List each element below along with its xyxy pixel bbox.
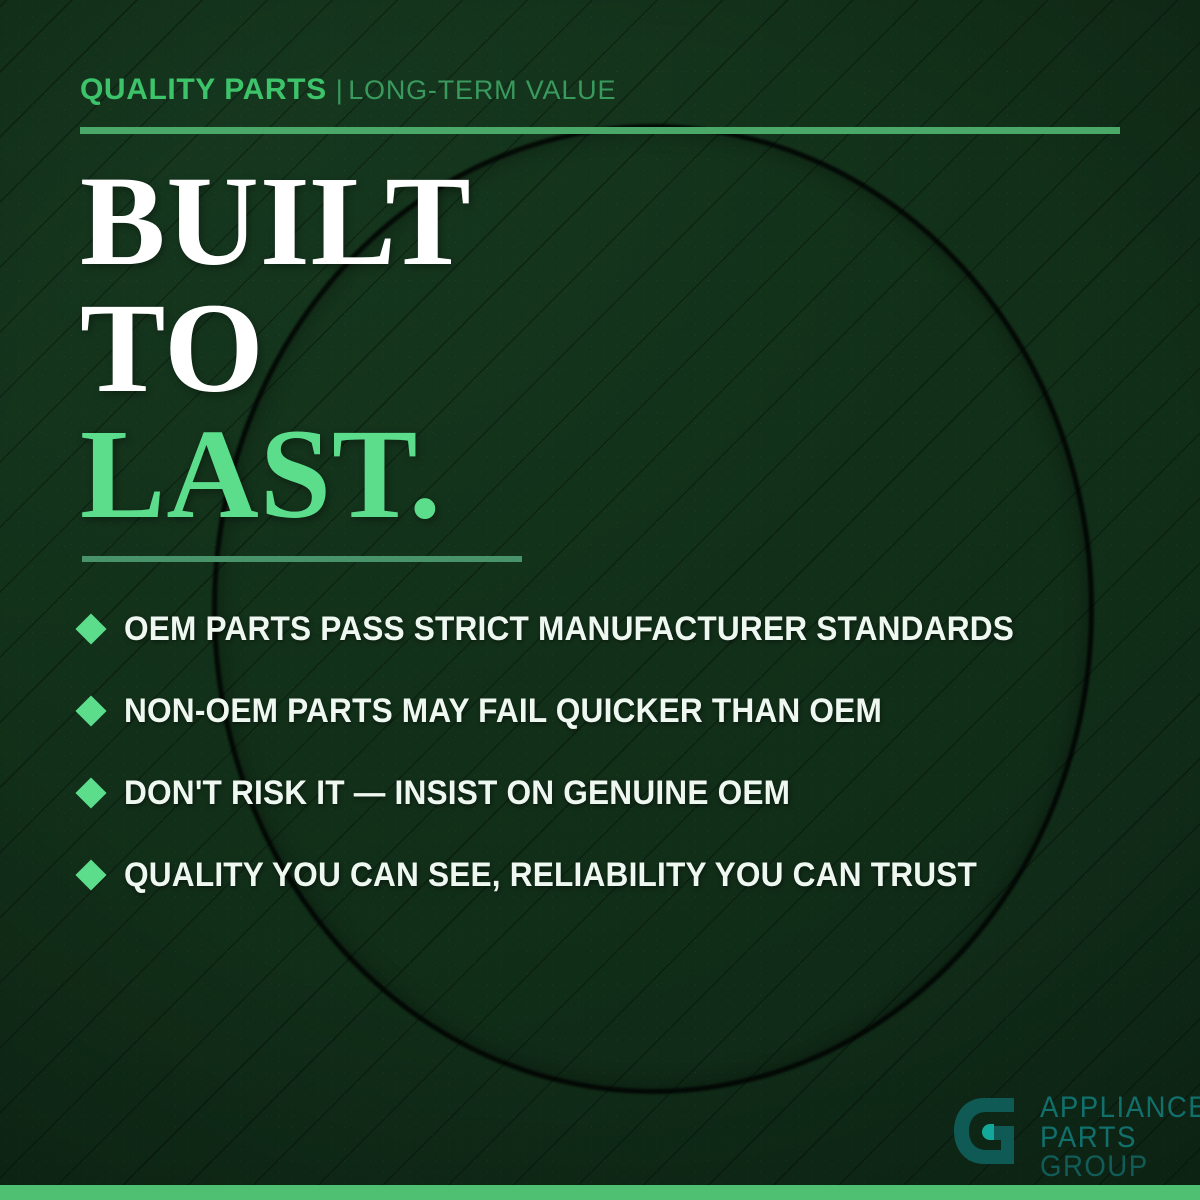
list-item-label: DON'T RISK IT — INSIST ON GENUINE OEM [124,774,790,813]
logo-line-1: APPLIANCE [1040,1093,1200,1123]
diamond-bullet-icon [75,695,106,726]
bottom-accent-bar [0,1185,1200,1200]
list-item: QUALITY YOU CAN SEE, RELIABILITY YOU CAN… [80,834,1140,916]
brand-logo-wordmark: APPLIANCE PARTS GROUP [1040,1088,1200,1182]
benefits-list: OEM PARTS PASS STRICT MANUFACTURER STAND… [80,588,1140,916]
logo-line-3: GROUP [1040,1152,1200,1182]
eyebrow-sub-text: LONG-TERM VALUE [348,75,616,105]
diamond-bullet-icon [75,859,106,890]
headline-divider-rule [82,556,522,562]
headline-line-1: BUILT [80,158,472,285]
promo-poster: QUALITY PARTS|LONG-TERM VALUE BUILT TO L… [0,0,1200,1200]
diamond-bullet-icon [75,613,106,644]
eyebrow-separator: | [336,75,344,105]
eyebrow-heading: QUALITY PARTS|LONG-TERM VALUE [80,73,616,107]
list-item-label: QUALITY YOU CAN SEE, RELIABILITY YOU CAN… [124,856,977,895]
eyebrow-main-text: QUALITY PARTS [80,73,327,106]
diamond-bullet-icon [75,777,106,808]
brand-logo: APPLIANCE PARTS GROUP [944,1088,1200,1182]
list-item-label: NON-OEM PARTS MAY FAIL QUICKER THAN OEM [124,692,882,731]
list-item: NON-OEM PARTS MAY FAIL QUICKER THAN OEM [80,670,1140,752]
header-divider-rule [80,127,1120,134]
list-item-label: OEM PARTS PASS STRICT MANUFACTURER STAND… [124,610,1014,649]
g-monogram-icon [944,1088,1030,1174]
page-title: BUILT TO LAST. [80,158,472,538]
list-item: DON'T RISK IT — INSIST ON GENUINE OEM [80,752,1140,834]
headline-line-2: TO [80,285,472,412]
list-item: OEM PARTS PASS STRICT MANUFACTURER STAND… [80,588,1140,670]
headline-line-3: LAST. [80,411,472,538]
logo-line-2: PARTS [1040,1123,1200,1153]
